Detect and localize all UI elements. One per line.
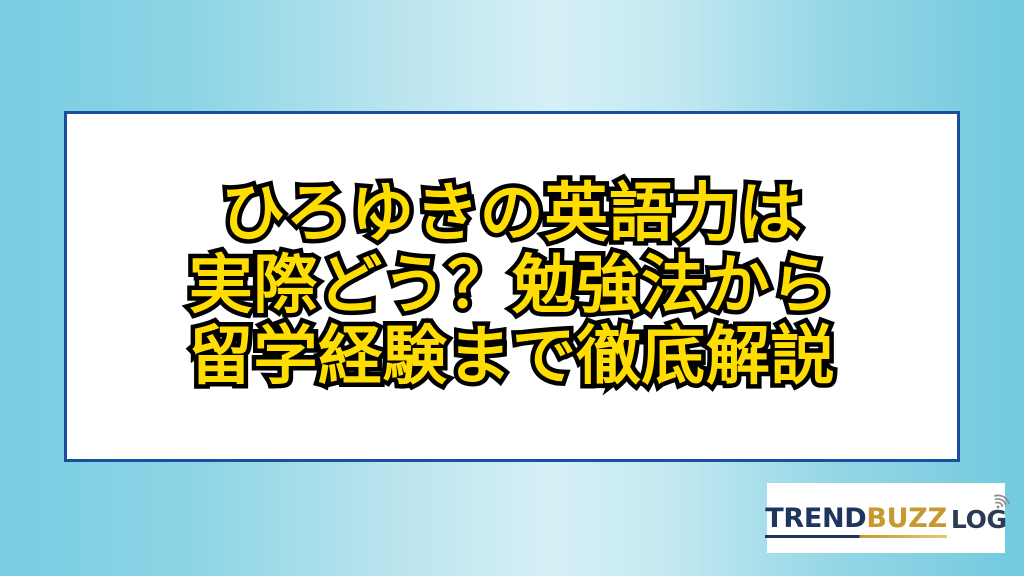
headline-line-1: ひろゆきの英語力は — [221, 181, 803, 249]
logo-wordmark: TRENDBUZZ — [765, 505, 947, 532]
title-card: ひろゆきの英語力は 実際どう？勉強法から 留学経験まで徹底解説 — [64, 111, 960, 462]
logo-text-buzz: BUZZ — [866, 503, 946, 534]
logo-text-log: LOG — [951, 507, 1007, 532]
logo-log-label: LOG — [951, 505, 1007, 534]
headline-line-2: 実際どう？勉強法から — [189, 253, 835, 321]
logo-underline-bar — [765, 535, 947, 538]
thumbnail-canvas: ひろゆきの英語力は 実際どう？勉強法から 留学経験まで徹底解説 TRENDBUZ… — [0, 0, 1024, 576]
headline-line-3: 留学経験まで徹底解説 — [189, 324, 835, 392]
logo-text-trend: TREND — [765, 503, 866, 534]
brand-logo[interactable]: TRENDBUZZ LOG — [767, 483, 1005, 553]
wifi-signal-icon — [986, 487, 1010, 509]
logo-inner: TRENDBUZZ LOG — [759, 505, 1013, 532]
